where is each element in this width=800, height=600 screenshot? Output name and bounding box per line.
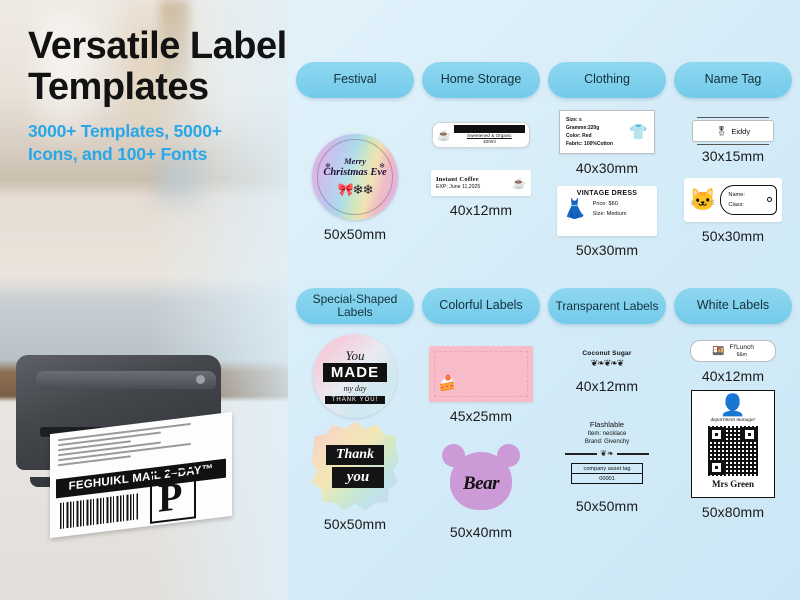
dimension-label: 30x15mm (702, 148, 764, 164)
dimension-label: 40x12mm (450, 202, 512, 218)
sample-column-home-storage: ☕ Whipped cream Sweetened & Organic 400m… (422, 106, 540, 258)
coffee-cup-icon: ☕ (437, 129, 451, 142)
category-pill-colorful-labels[interactable]: Colorful Labels (422, 288, 540, 324)
subtitle-line-1: 3000+ Templates, 5000+ (28, 121, 222, 141)
category-pill-clothing[interactable]: Clothing (548, 62, 666, 98)
printer-power-button (196, 375, 205, 384)
canister-line-2: 400ml (454, 139, 525, 145)
laurel-portrait-icon: 👤 (720, 395, 746, 416)
dress-icon: 👗 (563, 200, 587, 219)
garment-spec-label: Size: s Gramme:220g Color: Red Fabric: 1… (559, 110, 655, 154)
tshirt-icon: 👕 (629, 123, 648, 141)
lunch-text: Fl'Lunch 6&m (730, 344, 754, 357)
instant-coffee-title: Instant Coffee (436, 176, 480, 183)
sample-clothing-garment-spec[interactable]: Size: s Gramme:220g Color: Red Fabric: 1… (559, 110, 655, 176)
category-row-1: Festival Home Storage Clothing Name Tag … (288, 62, 800, 258)
snowflake-icon: ❄ (379, 162, 385, 170)
vintage-lines: Price: $60 Size: Medium (593, 200, 627, 219)
ribbon-line-1: Thank (326, 445, 384, 465)
qr-finder-icon (742, 427, 757, 442)
printed-shipping-label: FEGHUIKL MAIL 2~DAY™ P (50, 412, 232, 538)
sample-colorful-bear[interactable]: Bear 50x40mm (437, 444, 525, 540)
vintage-body: 👗 Price: $60 Size: Medium (563, 200, 651, 219)
media-pink-cake-label: 🍰 (429, 346, 533, 402)
barcode (60, 493, 138, 529)
sample-column-clothing: Size: s Gramme:220g Color: Red Fabric: 1… (548, 106, 666, 258)
badge-person-name: Mrs Green (712, 479, 754, 489)
asset-box-title: company asset tag (572, 464, 642, 474)
sample-transparent-asset-tag[interactable]: Flashlable Item: necklace Brand: Givench… (558, 412, 656, 514)
lunch-label: 🍱 Fl'Lunch 6&m (690, 340, 776, 362)
vintage-price: Price: $60 (593, 200, 627, 210)
divider-ornament: ❦❧ (565, 450, 649, 458)
media-bear-shaped-label: Bear (437, 444, 525, 518)
bear-label-text: Bear (463, 473, 499, 495)
thank-you-flower-sticker: Thank you (311, 422, 399, 510)
page-title: Versatile Label Templates (28, 26, 328, 108)
qr-finder-icon (709, 427, 724, 442)
sample-white-lunch[interactable]: 🍱 Fl'Lunch 6&m 40x12mm (690, 340, 776, 384)
canister-text: Whipped cream Sweetened & Organic 400ml (454, 125, 525, 146)
dimension-label: 50x30mm (576, 242, 638, 258)
dimension-label: 50x80mm (702, 504, 764, 520)
garment-line-3: Color: Red (566, 132, 625, 140)
vintage-size: Size: Medium (593, 210, 627, 220)
category-row-2: Special-Shaped Labels Colorful Labels Tr… (288, 288, 800, 540)
vintage-title: VINTAGE DRESS (563, 190, 651, 197)
sticker-line-you: You (345, 349, 364, 362)
garment-line-1: Size: s (566, 116, 625, 124)
templates-panel: Festival Home Storage Clothing Name Tag … (288, 0, 800, 600)
leaf-flourish-icon: ❦❧❦❧❦ (591, 358, 624, 369)
coffee-canister-label: ☕ Whipped cream Sweetened & Organic 400m… (432, 122, 530, 148)
canister-banner: Whipped cream (454, 125, 525, 133)
title-line-1: Versatile Label (28, 25, 287, 67)
sample-colorful-pink-cake[interactable]: 🍰 45x25mm (429, 346, 533, 424)
dimension-label: 45x25mm (450, 408, 512, 424)
asset-tag-box: company asset tag 00001 (571, 463, 643, 484)
asset-box-number: 00001 (572, 474, 642, 483)
cake-slice-icon: 🍰 (438, 374, 457, 392)
sample-column-special-shaped: You MADE my day THANK YOU! Thank (296, 332, 414, 540)
lunchbox-icon: 🍱 (712, 346, 724, 357)
garment-spec-lines: Size: s Gramme:220g Color: Red Fabric: 1… (566, 116, 625, 148)
dimension-label: 50x30mm (702, 228, 764, 244)
badge-name: Eiddy (731, 127, 750, 136)
lunch-title: Fl'Lunch (730, 344, 754, 351)
media-coconut-sugar-label: Coconut Sugar ❦❧❦❧❦ (559, 346, 655, 372)
dimension-label: 50x50mm (576, 498, 638, 514)
sample-transparent-coconut-sugar[interactable]: Coconut Sugar ❦❧❦❧❦ 40x12mm (559, 346, 655, 394)
sticker-line-1: Merry (344, 156, 366, 166)
sticker-line-thankyou: THANK YOU! (325, 396, 386, 404)
ruler-tick-top (697, 117, 769, 118)
page-subtitle: 3000+ Templates, 5000+ Icons, and 100+ F… (28, 120, 328, 166)
category-pill-home-storage[interactable]: Home Storage (422, 62, 540, 98)
tag-outline: Name: Class: (720, 185, 777, 215)
media-thank-you-flower-sticker: Thank you (311, 422, 399, 510)
sample-home-whipped-cream[interactable]: ☕ Whipped cream Sweetened & Organic 400m… (432, 122, 530, 148)
flourish-icon: ❦❧ (600, 450, 613, 458)
coconut-title: Coconut Sugar (582, 350, 631, 357)
headline-block: Versatile Label Templates 3000+ Template… (28, 26, 328, 166)
media-garment-spec-label: Size: s Gramme:220g Color: Red Fabric: 1… (559, 110, 655, 154)
garment-line-4: Fabric: 100%Cotton (566, 140, 625, 148)
media-name-badge: 🎖 Eiddy (692, 120, 774, 142)
media-cat-name-class-tag: 🐱 Name: Class: (684, 178, 782, 222)
tag-hole-icon (767, 197, 772, 202)
media-coffee-canister-label: ☕ Whipped cream Sweetened & Organic 400m… (432, 122, 530, 148)
category-pill-white-labels[interactable]: White Labels (674, 288, 792, 324)
dimension-label: 40x12mm (576, 378, 638, 394)
pill-row-1: Festival Home Storage Clothing Name Tag (288, 62, 800, 98)
ribbon-banner: Thank you (326, 445, 384, 488)
sample-clothing-vintage-dress[interactable]: VINTAGE DRESS 👗 Price: $60 Size: Medium … (557, 186, 657, 258)
pill-row-2: Special-Shaped Labels Colorful Labels Tr… (288, 288, 800, 324)
asset-item: Item: necklace (588, 431, 627, 437)
you-made-my-day-sticker: You MADE my day THANK YOU! (313, 334, 397, 418)
cat-icon: 🐱 (689, 189, 716, 211)
instant-coffee-exp: EXP: June 11,2025 (436, 184, 480, 190)
media-you-made-my-day-sticker: You MADE my day THANK YOU! (313, 334, 397, 418)
subtitle-line-2: Icons, and 100+ Fonts (28, 144, 207, 164)
sticker-line-made: MADE (323, 363, 387, 382)
dimension-label: 50x50mm (324, 226, 386, 242)
pink-cake-label: 🍰 (429, 346, 533, 402)
dimension-label: 50x40mm (450, 524, 512, 540)
sample-column-name-tag: 🎖 Eiddy 30x15mm 🐱 Name: Class: (674, 106, 792, 258)
instant-coffee-text: Instant Coffee EXP: June 11,2025 (436, 176, 480, 190)
samples-row-2: You MADE my day THANK YOU! Thank (288, 324, 800, 540)
media-lunch-label: 🍱 Fl'Lunch 6&m (690, 340, 776, 362)
ribbon-line-2: you (332, 467, 384, 488)
title-line-2: Templates (28, 66, 209, 108)
category-pill-special-shaped-labels[interactable]: Special-Shaped Labels (296, 288, 414, 324)
instant-coffee-label: Instant Coffee EXP: June 11,2025 ☕ (431, 170, 531, 196)
sample-white-qr-badge[interactable]: 👤 department manager Mrs Green 50x80mm (691, 390, 775, 520)
sample-special-thank-you-flower[interactable]: Thank you 50x50mm (311, 422, 399, 532)
name-badge: 🎖 Eiddy (692, 120, 774, 142)
media-asset-tag-label: Flashlable Item: necklace Brand: Givench… (558, 412, 656, 492)
sticker-line-2: Christmas Eve (323, 167, 386, 178)
dimension-label: 50x50mm (324, 516, 386, 532)
vintage-dress-label: VINTAGE DRESS 👗 Price: $60 Size: Medium (557, 186, 657, 236)
sample-column-colorful: 🍰 45x25mm Bear 50x40mm (422, 332, 540, 540)
samples-row-1: ❄ ❄ Merry Christmas Eve 🎀❄❄ 50x50mm (288, 98, 800, 258)
qr-staff-badge: 👤 department manager Mrs Green (691, 390, 775, 498)
sample-nametag-cat[interactable]: 🐱 Name: Class: 50x30mm (684, 178, 782, 244)
coconut-sugar-label: Coconut Sugar ❦❧❦❧❦ (559, 346, 655, 372)
badge-role: department manager (710, 417, 755, 423)
asset-brand: Brand: Givenchy (585, 439, 629, 445)
cat-name-class-tag: 🐱 Name: Class: (684, 178, 782, 222)
qr-code (708, 426, 758, 476)
printer-top-strip (36, 371, 216, 389)
sample-home-instant-coffee[interactable]: Instant Coffee EXP: June 11,2025 ☕ 40x12… (431, 170, 531, 218)
sleigh-icon: 🎀❄❄ (338, 182, 373, 198)
postage-letter: P (158, 476, 182, 519)
rosette-icon: 🎖 (716, 126, 727, 137)
sample-nametag-eiddy[interactable]: 🎖 Eiddy 30x15mm (692, 120, 774, 164)
sample-column-white: 🍱 Fl'Lunch 6&m 40x12mm 👤 departm (674, 332, 792, 540)
category-pill-transparent-labels[interactable]: Transparent Labels (548, 288, 666, 324)
dimension-label: 40x30mm (576, 160, 638, 176)
asset-title: Flashlable (590, 420, 624, 429)
ruler-tick-bottom (697, 144, 769, 145)
media-qr-staff-badge: 👤 department manager Mrs Green (691, 390, 775, 498)
sample-special-you-made-my-day[interactable]: You MADE my day THANK YOU! (313, 334, 397, 418)
qr-finder-icon (709, 460, 724, 475)
media-instant-coffee-label: Instant Coffee EXP: June 11,2025 ☕ (431, 170, 531, 196)
category-pill-name-tag[interactable]: Name Tag (674, 62, 792, 98)
dimension-label: 40x12mm (702, 368, 764, 384)
bear-shaped-label: Bear (437, 444, 525, 518)
printer-illustration: FEGHUIKL MAIL 2~DAY™ P (8, 345, 278, 530)
sticker-line-myday: my day (344, 384, 367, 393)
garment-line-2: Gramme:220g (566, 124, 625, 132)
coffee-cup-icon: ☕ (512, 177, 526, 190)
sample-column-transparent: Coconut Sugar ❦❧❦❧❦ 40x12mm Flashlable I… (548, 332, 666, 540)
lunch-sub: 6&m (730, 352, 754, 358)
media-vintage-dress-label: VINTAGE DRESS 👗 Price: $60 Size: Medium (557, 186, 657, 236)
asset-tag-label: Flashlable Item: necklace Brand: Givench… (558, 412, 656, 492)
